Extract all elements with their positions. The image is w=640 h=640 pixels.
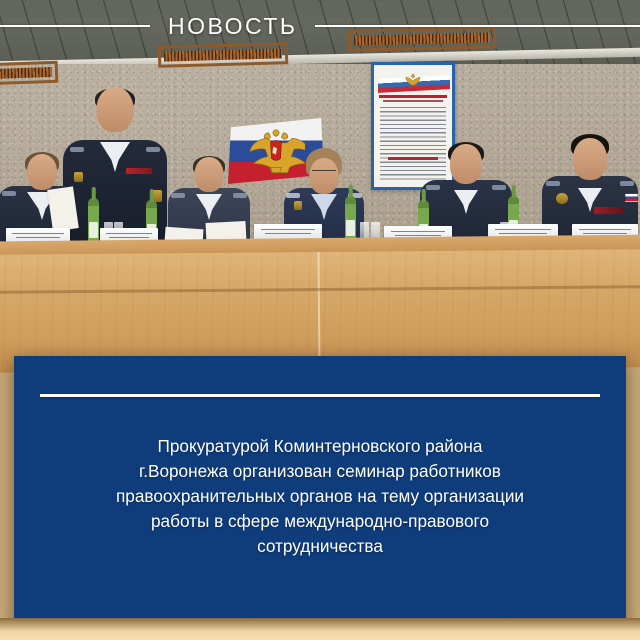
water-bottle-icon xyxy=(345,196,356,240)
shoulder-patch-icon xyxy=(74,172,83,182)
caption-line: Прокуратурой Коминтерновского района xyxy=(40,434,600,459)
bottom-edge-strip xyxy=(0,618,640,640)
caption-divider xyxy=(40,394,600,397)
caption-line: сотрудничества xyxy=(40,534,600,559)
caption-text: Прокуратурой Коминтерновского района г.В… xyxy=(40,434,600,559)
caption-line: г.Воронежа организован семинар работнико… xyxy=(40,459,600,484)
caption-card: Прокуратурой Коминтерновского района г.В… xyxy=(14,356,626,626)
eyeglasses-icon xyxy=(312,170,336,176)
caption-line: работы в сфере международно-правового xyxy=(40,509,600,534)
chest-insignia xyxy=(126,168,152,174)
flag-shoulder-patch-icon xyxy=(625,193,638,202)
horizontal-rule-icon xyxy=(315,25,640,28)
news-card: НОВОСТЬ Прокуратурой Коминтерновского ра… xyxy=(0,0,640,640)
chest-insignia xyxy=(594,207,624,214)
horizontal-rule-icon xyxy=(0,25,150,28)
news-banner: НОВОСТЬ xyxy=(0,0,640,52)
page-title: НОВОСТЬ xyxy=(150,13,315,40)
caption-line: правоохранительных органов на тему орган… xyxy=(40,484,600,509)
water-bottle-icon xyxy=(88,198,99,242)
